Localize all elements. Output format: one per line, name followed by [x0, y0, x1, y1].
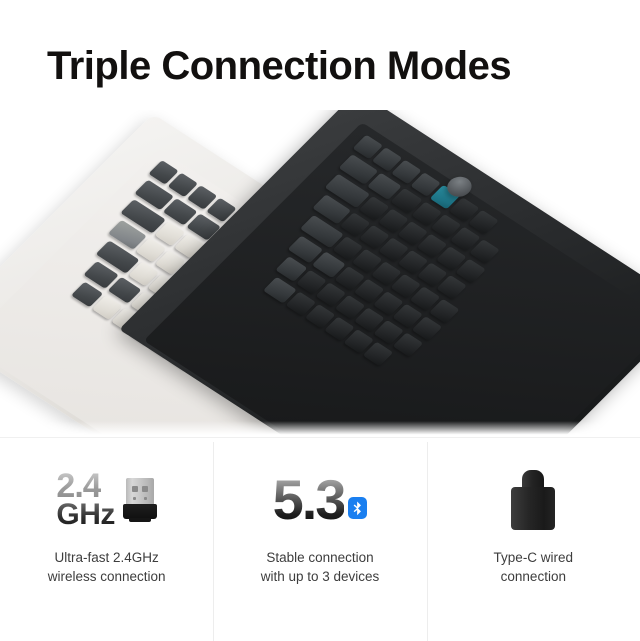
- feature-strip: 2.4 GHz Ultra-fast 2.4GHz wireless conne…: [0, 437, 640, 641]
- feature-bluetooth-artwork: 5.3: [273, 452, 368, 548]
- usb-dongle-body: [123, 504, 157, 519]
- hero-bottom-fade: [0, 421, 640, 437]
- usb-dongle-pin: [132, 486, 138, 492]
- usb-dongle-foot: [129, 518, 151, 522]
- usb-dongle-pin: [142, 486, 148, 492]
- usb-dongle-connector: [126, 478, 154, 505]
- feature-wireless-24ghz: 2.4 GHz Ultra-fast 2.4GHz wireless conne…: [0, 438, 213, 641]
- type-c-shell: [511, 487, 555, 530]
- feature-24ghz-caption: Ultra-fast 2.4GHz wireless connection: [48, 548, 166, 586]
- product-feature-page: Triple Connection Modes: [0, 0, 640, 640]
- ghz-unit: GHz: [56, 502, 115, 528]
- hero-keyboard-photo: [0, 110, 640, 437]
- usb-dongle-dot: [133, 497, 136, 500]
- feature-type-c-caption: Type-C wired connection: [494, 548, 574, 586]
- ghz-lockup: 2.4 GHz: [56, 472, 115, 528]
- usb-type-c-icon: [511, 470, 555, 530]
- bluetooth-lockup: 5.3: [273, 475, 368, 525]
- feature-bluetooth-caption: Stable connection with up to 3 devices: [261, 548, 380, 586]
- usb-dongle-dot: [144, 497, 147, 500]
- usb-dongle-icon: [123, 478, 157, 522]
- bluetooth-version-value: 5.3: [273, 475, 345, 525]
- feature-bluetooth-53: 5.3 Stable connection with up to 3 devic…: [213, 438, 426, 641]
- feature-24ghz-artwork: 2.4 GHz: [56, 452, 157, 548]
- feature-wired-type-c: Type-C wired connection: [427, 438, 640, 641]
- bluetooth-icon: [348, 497, 367, 519]
- page-title: Triple Connection Modes: [47, 43, 511, 89]
- feature-type-c-artwork: [511, 452, 555, 548]
